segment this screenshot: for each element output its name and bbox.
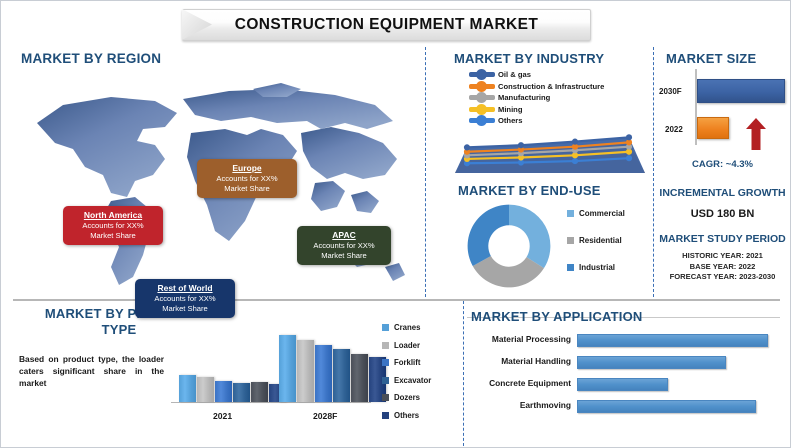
product-type-legend-item: Loader [382,337,431,355]
industry-chart-legend: Oil & gasConstruction & InfrastructureMa… [469,69,604,127]
table-row [251,382,268,402]
product-type-legend-item: Others [382,407,431,425]
product-type-legend-label: Forklift [394,358,420,367]
title-banner: CONSTRUCTION EQUIPMENT MARKET [182,9,589,39]
divider-vertical-left [425,47,426,297]
product-type-axis [171,402,371,403]
industry-legend-label: Others [498,116,522,125]
industry-legend-label: Oil & gas [498,70,531,79]
industry-legend-item: Oil & gas [469,69,604,81]
region-pin-line1: Accounts for XX% [69,221,157,231]
application-chart: Material ProcessingMaterial HandlingConc… [471,334,781,432]
table-row [351,354,368,402]
application-label: Concrete Equipment [471,378,571,388]
region-pin-title: Rest of World [141,283,229,294]
region-pin-line1: Accounts for XX% [303,241,385,251]
application-bar [577,378,668,391]
product-type-note: Based on product type, the loader caters… [19,353,164,389]
application-bar [577,356,726,369]
table-row [215,381,232,402]
table-row [179,375,196,402]
incremental-growth-label: INCREMENTAL GROWTH [653,183,791,201]
region-pin-line1: Accounts for XX% [203,174,291,184]
industry-legend-item: Construction & Infrastructure [469,81,604,93]
section-title-market-size: MARKET SIZE [666,51,756,66]
industry-chart-plot [455,127,645,173]
end-use-legend-item: Industrial [567,263,625,272]
page-title: CONSTRUCTION EQUIPMENT MARKET [235,16,539,34]
legend-swatch-icon [567,237,574,244]
table-row [233,383,250,402]
table-row [297,340,314,402]
list-item: Concrete Equipment [471,378,781,391]
cagr-value: CAGR: ~4.3% [653,159,791,170]
product-type-legend-label: Excavator [394,376,431,385]
application-bar [577,334,768,347]
section-title-application: MARKET BY APPLICATION [471,309,643,324]
industry-legend-item: Manufacturing [469,92,604,104]
divider-horizontal [13,299,780,301]
market-size-label-2030: 2030F [659,87,682,96]
region-pin-line2: Market Share [69,231,157,241]
application-label: Earthmoving [471,400,571,410]
region-pin-line2: Market Share [303,251,385,261]
end-use-donut-chart [461,201,557,291]
market-size-label-2022: 2022 [665,125,683,134]
region-pin-line2: Market Share [203,184,291,194]
legend-marker-icon [469,107,495,112]
world-map: North America Accounts for XX% Market Sh… [15,71,415,291]
legend-swatch-icon [382,377,389,384]
market-size-bar-2022 [697,117,729,139]
list-item: Earthmoving [471,400,781,413]
industry-legend-label: Construction & Infrastructure [498,82,604,91]
industry-legend-label: Mining [498,105,522,114]
market-size-chart: 2030F 2022 [659,69,787,149]
product-type-legend-item: Cranes [382,319,431,337]
legend-swatch-icon [382,324,389,331]
legend-swatch-icon [567,210,574,217]
end-use-legend-item: Residential [567,236,625,245]
industry-chart-svg [455,127,645,173]
product-type-chart: 20212028F [171,323,371,421]
legend-marker-icon [469,118,495,123]
industry-legend-item: Others [469,115,604,127]
region-pin-apac[interactable]: APAC Accounts for XX% Market Share [297,226,391,265]
table-row [197,377,214,402]
market-size-bar-2030 [697,79,785,103]
end-use-legend-item: Commercial [567,209,625,218]
application-bar [577,400,756,413]
growth-arrow-icon [746,118,766,150]
product-type-legend-item: Excavator [382,372,431,390]
region-pin-title: North America [69,210,157,221]
legend-swatch-icon [382,412,389,419]
product-type-legend-label: Others [394,411,419,420]
end-use-donut-svg [461,201,557,291]
region-pin-title: Europe [203,163,291,174]
list-item: Material Processing [471,334,781,347]
region-pin-rest-of-world[interactable]: Rest of World Accounts for XX% Market Sh… [135,279,235,318]
divider-vertical-bottom [463,301,464,446]
product-type-legend-item: Dozers [382,389,431,407]
end-use-legend: CommercialResidentialIndustrial [567,209,625,290]
section-title-region: MARKET BY REGION [21,51,161,66]
product-type-x-label: 2021 [213,411,232,421]
legend-swatch-icon [382,342,389,349]
legend-marker-icon [469,84,495,89]
table-row [333,349,350,402]
incremental-growth-value: USD 180 BN [653,204,791,222]
legend-swatch-icon [382,359,389,366]
legend-swatch-icon [382,394,389,401]
region-pin-title: APAC [303,230,385,241]
product-type-legend: CranesLoaderForkliftExcavatorDozersOther… [382,319,431,424]
product-type-legend-label: Dozers [394,393,420,402]
region-pin-europe[interactable]: Europe Accounts for XX% Market Share [197,159,297,198]
infographic-page: CONSTRUCTION EQUIPMENT MARKET MARKET BY … [0,0,791,448]
region-pin-line2: Market Share [141,304,229,314]
product-type-legend-label: Loader [394,341,420,350]
base-year: BASE YEAR: 2022 [653,262,791,273]
end-use-legend-label: Commercial [579,209,625,218]
product-type-x-label: 2028F [313,411,337,421]
end-use-legend-label: Industrial [579,263,615,272]
section-title-end-use: MARKET BY END-USE [458,183,601,198]
legend-marker-icon [469,95,495,100]
section-title-industry: MARKET BY INDUSTRY [454,51,604,66]
industry-chart: Oil & gasConstruction & InfrastructureMa… [451,69,647,174]
product-type-legend-label: Cranes [394,323,420,332]
banner-notch-shape [182,9,212,40]
end-use-legend-label: Residential [579,236,622,245]
industry-legend-item: Mining [469,104,604,116]
industry-legend-label: Manufacturing [498,93,550,102]
region-pin-north-america[interactable]: North America Accounts for XX% Market Sh… [63,206,163,245]
legend-marker-icon [469,72,495,77]
application-label: Material Processing [471,334,571,344]
list-item: Material Handling [471,356,781,369]
study-period-years: HISTORIC YEAR: 2021 BASE YEAR: 2022 FORE… [653,251,791,283]
forecast-year: FORECAST YEAR: 2023-2030 [653,272,791,283]
table-row [315,345,332,402]
historic-year: HISTORIC YEAR: 2021 [653,251,791,262]
application-label: Material Handling [471,356,571,366]
region-pin-line1: Accounts for XX% [141,294,229,304]
table-row [279,335,296,402]
product-type-legend-item: Forklift [382,354,431,372]
legend-swatch-icon [567,264,574,271]
study-period-label: MARKET STUDY PERIOD [653,229,791,247]
